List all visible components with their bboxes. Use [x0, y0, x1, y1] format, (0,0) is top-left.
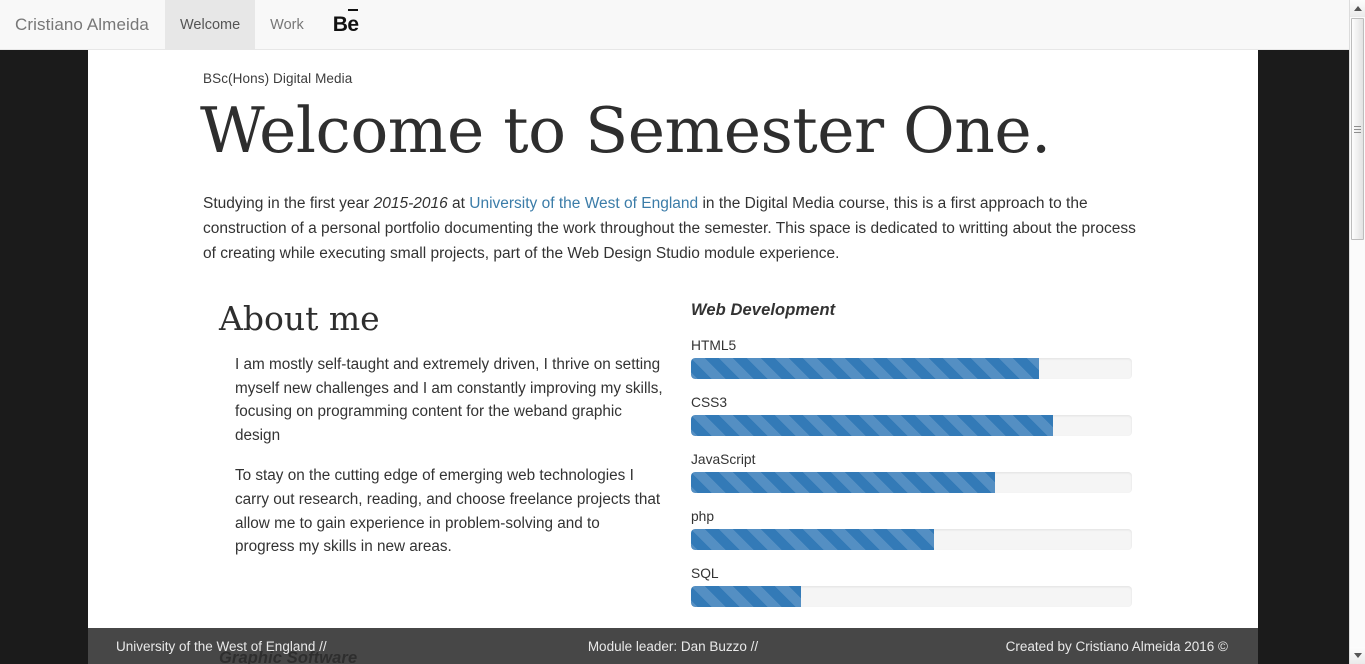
grip-icon [1354, 124, 1361, 135]
skill-item: SQL [691, 566, 1146, 607]
skill-progress-fill [691, 529, 934, 550]
skill-progress-fill [691, 472, 995, 493]
about-paragraph: To stay on the cutting edge of emerging … [235, 464, 663, 559]
nav-tab-work[interactable]: Work [255, 0, 319, 49]
intro-paragraph: Studying in the first year 2015-2016 at … [203, 192, 1148, 266]
about-body: I am mostly self-taught and extremely dr… [219, 353, 663, 559]
skill-progress-track [691, 529, 1132, 550]
skill-label: SQL [691, 566, 1146, 581]
skill-progress-fill [691, 358, 1039, 379]
two-column-section: About me I am mostly self-taught and ext… [203, 301, 1249, 623]
scroll-up-button[interactable] [1350, 0, 1365, 17]
behance-e: e [347, 13, 358, 37]
page-content: BSc(Hons) Digital Media Welcome to Semes… [88, 50, 1258, 664]
uwe-link[interactable]: University of the West of England [469, 195, 698, 212]
scroll-down-button[interactable] [1350, 647, 1365, 664]
skill-label: HTML5 [691, 338, 1146, 353]
skill-label: JavaScript [691, 452, 1146, 467]
intro-years: 2015-2016 [374, 195, 448, 212]
skill-progress-track [691, 586, 1132, 607]
about-heading: About me [219, 301, 663, 337]
vertical-scrollbar[interactable] [1349, 0, 1365, 664]
site-navbar: Cristiano Almeida Welcome Work Be [0, 0, 1349, 50]
skill-progress-fill [691, 586, 801, 607]
chevron-up-icon [1354, 6, 1362, 11]
skill-item: CSS3 [691, 395, 1146, 436]
skill-item: JavaScript [691, 452, 1146, 493]
browser-viewport: Cristiano Almeida Welcome Work Be BSc(Ho… [0, 0, 1365, 664]
behance-b: B [333, 13, 348, 37]
skill-progress-track [691, 358, 1132, 379]
skill-progress-fill [691, 415, 1053, 436]
skills-column: Web Development HTML5 CSS3 [691, 301, 1146, 623]
skill-label: CSS3 [691, 395, 1146, 410]
course-kicker: BSc(Hons) Digital Media [203, 50, 1258, 86]
skill-progress-track [691, 415, 1132, 436]
page-title: Welcome to Semester One. [200, 97, 1258, 165]
behance-icon[interactable]: Be [319, 0, 373, 49]
navbar-brand[interactable]: Cristiano Almeida [0, 0, 165, 49]
page-footer: University of the West of England // Mod… [88, 628, 1258, 664]
footer-right-text: Created by Cristiano Almeida 2016 © [1006, 639, 1228, 654]
skill-progress-track [691, 472, 1132, 493]
scrollbar-thumb[interactable] [1351, 18, 1364, 240]
intro-part-1: Studying in the first year [203, 195, 374, 212]
skill-label: php [691, 509, 1146, 524]
intro-part-2: at [448, 195, 470, 212]
skills-heading-web: Web Development [691, 301, 1146, 320]
nav-tab-welcome[interactable]: Welcome [165, 0, 255, 49]
about-paragraph: I am mostly self-taught and extremely dr… [235, 353, 663, 448]
chevron-down-icon [1354, 653, 1362, 658]
skill-item: php [691, 509, 1146, 550]
about-column: About me I am mostly self-taught and ext… [203, 301, 663, 623]
skill-item: HTML5 [691, 338, 1146, 379]
